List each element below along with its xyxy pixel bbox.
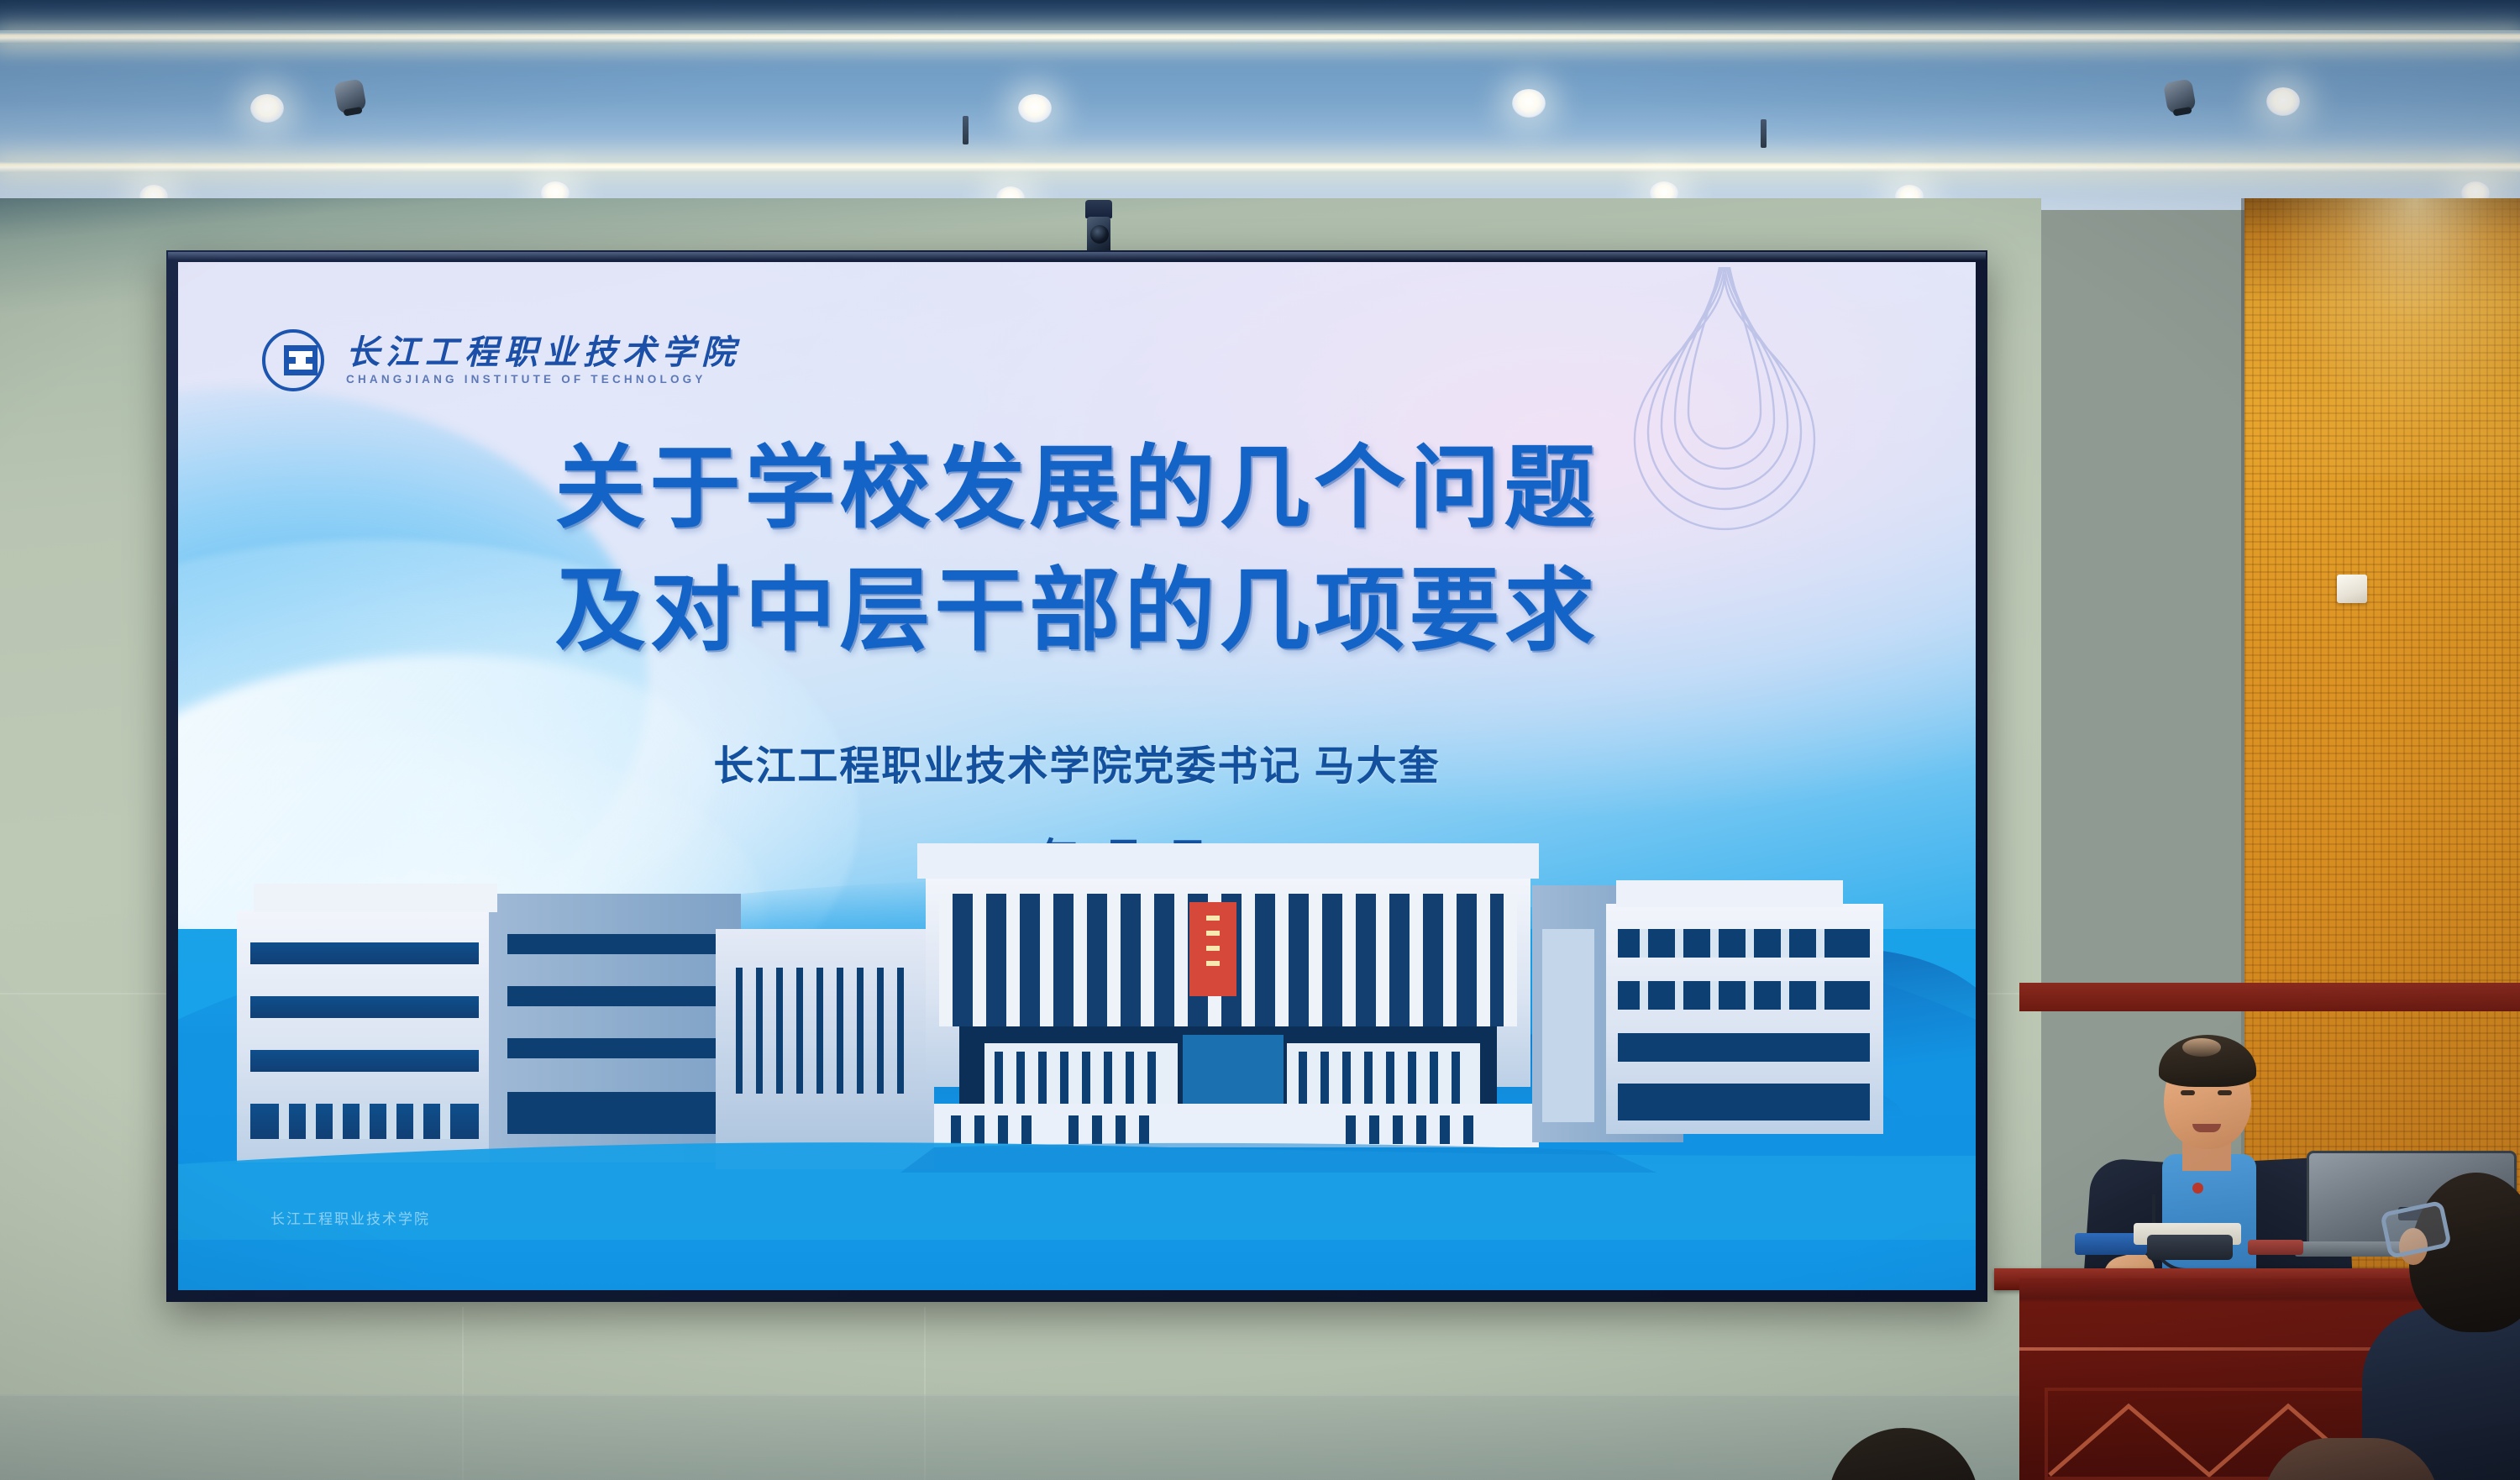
recessed-downlight [1512, 89, 1546, 118]
slide-footnote: 长江工程职业技术学院 [270, 1207, 430, 1228]
institution-name-en: CHANGJIANG INSTITUTE OF TECHNOLOGY [346, 374, 741, 386]
ceiling-upper-recess [0, 0, 2520, 30]
projection-screen-frame: 长江工程职业技术学院 CHANGJIANG INSTITUTE OF TECHN… [166, 250, 1987, 1302]
building-connector [716, 929, 934, 1169]
slide-logo: 长江工程职业技术学院 CHANGJIANG INSTITUTE OF TECHN… [259, 326, 741, 395]
projection-screen: 长江工程职业技术学院 CHANGJIANG INSTITUTE OF TECHN… [178, 262, 1976, 1290]
led-cove-strip-lower [0, 161, 2520, 172]
slide-title-line-1: 关于学校发展的几个问题 [178, 427, 1976, 549]
building-left-wing [237, 884, 741, 1162]
building-right-wing [1532, 880, 1883, 1142]
conference-hall-scene: 长江工程职业技术学院 CHANGJIANG INSTITUTE OF TECHN… [0, 0, 2520, 1480]
slide-title-block: 关于学校发展的几个问题 及对中层干部的几项要求 [178, 427, 1976, 672]
ceiling-sprinkler [1761, 119, 1767, 148]
track-spotlight [333, 78, 367, 114]
slide-presenter-line: 长江工程职业技术学院党委书记 马大奎 [178, 743, 1976, 791]
institution-name-cn: 长江工程职业技术学院 [346, 336, 741, 370]
institution-emblem-icon [259, 326, 328, 395]
slide-title-line-2: 及对中层干部的几项要求 [178, 549, 1976, 672]
institution-name-block: 长江工程职业技术学院 CHANGJIANG INSTITUTE OF TECHN… [346, 336, 741, 386]
ceiling-sprinkler [963, 116, 969, 144]
camera-mount-icon [1085, 200, 1112, 218]
recessed-downlight [250, 94, 284, 123]
recessed-downlight [1018, 94, 1052, 123]
building-main-hall [917, 843, 1539, 1147]
ceiling [0, 0, 2520, 210]
campus-building-image [178, 803, 1976, 1240]
recessed-downlight [2266, 87, 2300, 116]
light-switch[interactable] [2337, 575, 2367, 603]
camera-lens-icon [1090, 225, 1109, 244]
led-cove-strip-upper [0, 32, 2520, 43]
track-spotlight [2163, 78, 2197, 114]
